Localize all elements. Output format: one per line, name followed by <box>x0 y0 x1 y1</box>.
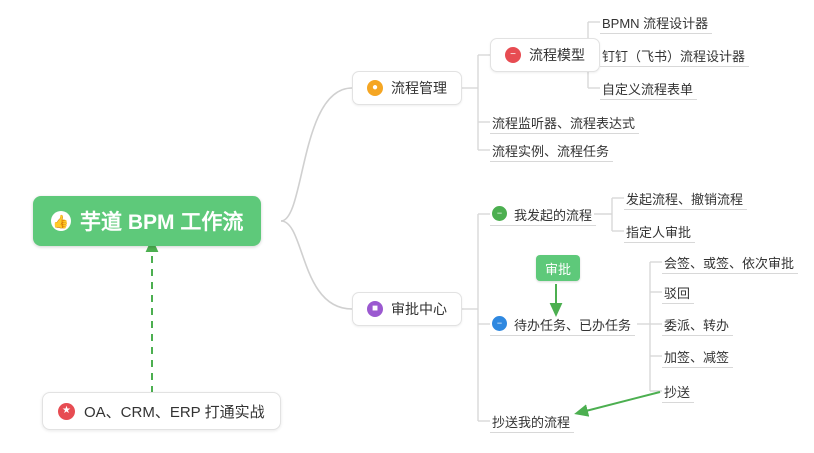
leaf-label: 会签、或签、依次审批 <box>664 257 794 270</box>
lightbulb-icon: ● <box>367 80 383 96</box>
branch-process-management[interactable]: ● 流程管理 <box>352 71 462 105</box>
leaf-label: BPMN 流程设计器 <box>602 17 708 30</box>
node-my-submitted[interactable]: − 我发起的流程 <box>490 200 596 226</box>
leaf-label: 抄送我的流程 <box>492 416 570 429</box>
leaf-delegate-transfer[interactable]: 委派、转办 <box>662 310 733 336</box>
minus-circle-icon: − <box>505 47 521 63</box>
leaf-add-remove-sign[interactable]: 加签、减签 <box>662 342 733 368</box>
leaf-listener-expression[interactable]: 流程监听器、流程表达式 <box>490 108 639 134</box>
node-label: 我发起的流程 <box>514 209 592 222</box>
thumbs-up-icon: 👍 <box>51 211 71 231</box>
node-todo-done[interactable]: − 待办任务、已办任务 <box>490 310 635 336</box>
branch-label: 流程管理 <box>391 78 447 98</box>
leaf-reject[interactable]: 驳回 <box>662 278 694 304</box>
leaf-label: 抄送 <box>664 386 690 399</box>
branch-label: 审批中心 <box>391 299 447 319</box>
root-label: 芋道 BPM 工作流 <box>80 206 243 236</box>
minus-circle-icon: − <box>492 206 507 221</box>
star-icon: ★ <box>58 403 75 420</box>
branch-approval-center[interactable]: ■ 审批中心 <box>352 292 462 326</box>
node-label: 待办任务、已办任务 <box>514 319 631 332</box>
leaf-label: 钉钉（飞书）流程设计器 <box>602 50 745 63</box>
leaf-countersign[interactable]: 会签、或签、依次审批 <box>662 248 798 274</box>
node-process-model[interactable]: − 流程模型 <box>490 38 600 72</box>
leaf-label: 流程实例、流程任务 <box>492 145 609 158</box>
bottom-note-card[interactable]: ★ OA、CRM、ERP 打通实战 <box>42 392 281 430</box>
callout-label: 审批 <box>545 259 571 278</box>
leaf-custom-form[interactable]: 自定义流程表单 <box>600 74 697 100</box>
leaf-instance-task[interactable]: 流程实例、流程任务 <box>490 136 613 162</box>
root-node[interactable]: 👍 芋道 BPM 工作流 <box>33 196 261 246</box>
leaf-assign-approver[interactable]: 指定人审批 <box>624 217 695 243</box>
mindmap-canvas: 👍 芋道 BPM 工作流 ● 流程管理 − 流程模型 BPMN 流程设计器 钉钉… <box>0 0 814 453</box>
leaf-label: 自定义流程表单 <box>602 83 693 96</box>
minus-circle-icon: − <box>492 316 507 331</box>
leaf-bpmn-designer[interactable]: BPMN 流程设计器 <box>600 8 712 34</box>
message-icon: ■ <box>367 301 383 317</box>
node-label: 流程模型 <box>529 45 585 65</box>
bottom-note-label: OA、CRM、ERP 打通实战 <box>84 401 265 422</box>
leaf-cc-to-me[interactable]: 抄送我的流程 <box>490 407 574 433</box>
leaf-label: 驳回 <box>664 287 690 300</box>
leaf-dingtalk-designer[interactable]: 钉钉（飞书）流程设计器 <box>600 41 749 67</box>
leaf-label: 流程监听器、流程表达式 <box>492 117 635 130</box>
leaf-label: 指定人审批 <box>626 226 691 239</box>
leaf-label: 发起流程、撤销流程 <box>626 193 743 206</box>
leaf-cc[interactable]: 抄送 <box>662 377 694 403</box>
leaf-label: 委派、转办 <box>664 319 729 332</box>
leaf-label: 加签、减签 <box>664 351 729 364</box>
callout-approval-tag[interactable]: 审批 <box>536 255 580 281</box>
leaf-start-cancel[interactable]: 发起流程、撤销流程 <box>624 184 747 210</box>
